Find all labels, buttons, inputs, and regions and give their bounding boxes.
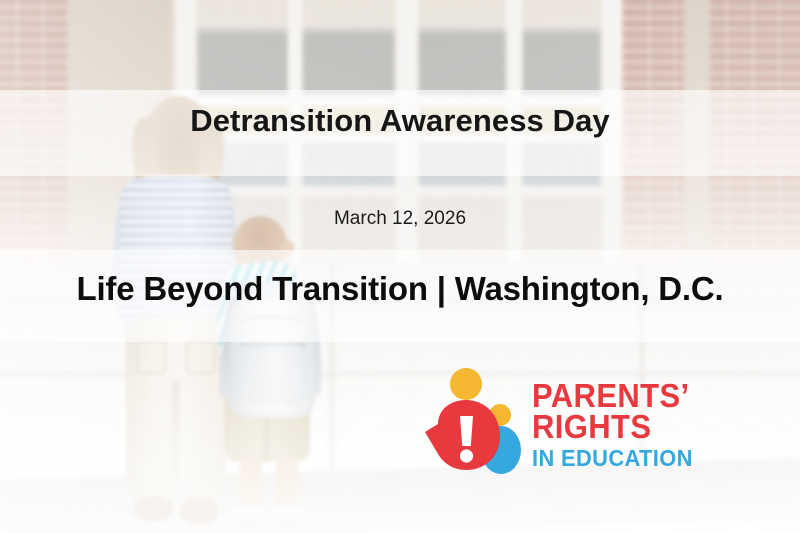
event-banner: Detransition Awareness Day March 12, 202… — [0, 0, 800, 533]
backpack-pocket — [237, 344, 307, 404]
logo-line-rights: RIGHTS — [532, 411, 705, 442]
window-pane — [196, 30, 292, 96]
logo-line-parents: PARENTS’ — [532, 380, 705, 411]
window-pane — [416, 140, 512, 190]
child-shoe — [272, 506, 304, 528]
child-ear — [281, 240, 294, 257]
window-pane — [300, 140, 396, 190]
window-pane — [520, 30, 602, 96]
window-pane — [416, 30, 512, 96]
pants-pocket — [186, 340, 216, 374]
child-shoe — [234, 506, 266, 528]
yellow-circle-icon — [450, 368, 482, 400]
mother-sandal — [134, 496, 172, 522]
window-pane — [300, 30, 396, 96]
logo-mark — [424, 366, 532, 478]
mother-leg-seam — [172, 380, 179, 498]
child-leg — [276, 456, 298, 512]
organization-logo[interactable]: PARENTS’ RIGHTS IN EDUCATION — [424, 366, 716, 498]
mother-sandal — [180, 498, 218, 524]
event-headline: Life Beyond Transition | Washington, D.C… — [0, 268, 800, 310]
event-date: March 12, 2026 — [0, 206, 800, 232]
exclamation-dot-icon — [460, 449, 473, 462]
window-pane — [520, 140, 602, 190]
backpack-seam — [239, 316, 305, 330]
child-leg — [240, 456, 262, 512]
logo-line-in-education: IN EDUCATION — [532, 446, 707, 471]
event-title: Detransition Awareness Day — [0, 102, 800, 140]
logo-mark-svg — [424, 366, 532, 478]
logo-wordmark: PARENTS’ RIGHTS IN EDUCATION — [532, 380, 716, 471]
exclamation-stem-icon — [460, 416, 473, 446]
pants-pocket — [136, 340, 166, 374]
